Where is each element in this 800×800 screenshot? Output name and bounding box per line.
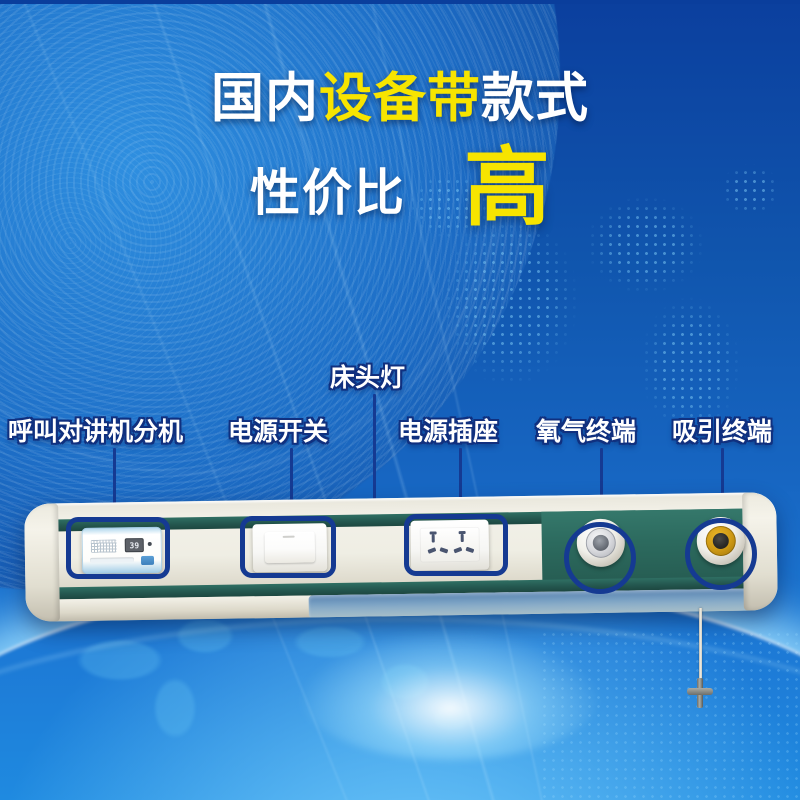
headline-text-white-b: 款式	[481, 68, 589, 129]
top-edge-bar	[0, 0, 800, 4]
highlight-box-power-socket	[404, 514, 508, 576]
highlight-box-intercom	[66, 517, 170, 579]
headline-emphasis-high: 高	[464, 149, 550, 228]
panel-end-cap-left	[24, 503, 60, 622]
headline-block: 国内设备带款式 性价比 高	[0, 72, 800, 228]
highlight-circle-oxygen-terminal	[564, 522, 636, 594]
callout-label-intercom: 呼叫对讲机分机	[8, 412, 183, 448]
callout-label-power-socket: 电源插座	[398, 412, 498, 448]
callout-label-suction-terminal: 吸引终端	[672, 412, 772, 448]
bed-lamp-pull-cord[interactable]	[699, 608, 702, 684]
headline-line-2: 性价比 高	[0, 149, 800, 228]
pull-handle-horizontal	[687, 688, 713, 695]
highlight-box-power-switch	[240, 516, 336, 578]
pull-cord-handle[interactable]	[687, 678, 713, 708]
headline-line-1: 国内设备带款式	[0, 72, 800, 125]
headline-text-white-a: 国内	[211, 68, 319, 129]
headline-value-ratio: 性价比	[250, 153, 406, 225]
highlight-circle-suction-terminal	[685, 518, 757, 590]
callout-label-power-switch: 电源开关	[228, 412, 328, 448]
headline-text-yellow: 设备带	[319, 68, 481, 129]
promo-banner: 国内设备带款式 性价比 高 呼叫对讲机分机 电源开关 床头灯 电源插座 氧气终端…	[0, 0, 800, 800]
callout-label-oxygen-terminal: 氧气终端	[536, 412, 636, 448]
callout-label-bed-lamp: 床头灯	[330, 358, 405, 394]
